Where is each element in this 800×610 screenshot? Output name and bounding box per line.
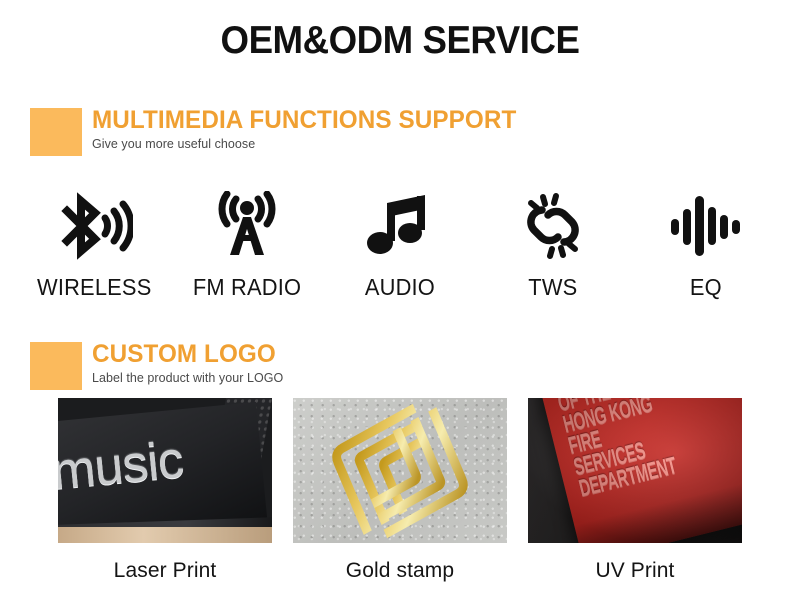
section-accent-swatch xyxy=(30,342,82,390)
broken-chain-link-icon xyxy=(518,190,588,262)
laser-print-photo: music xyxy=(58,398,272,543)
logo-sample-card: music Laser Print xyxy=(58,398,272,583)
feature-label-fm-radio: FM RADIO xyxy=(193,274,301,301)
logo-sample-card: Gold stamp xyxy=(293,398,507,583)
page-title: OEM&ODM SERVICE xyxy=(24,20,776,63)
section-header-text-group: MULTIMEDIA FUNCTIONS SUPPORT Give you mo… xyxy=(92,106,732,151)
section-title-custom-logo: CUSTOM LOGO xyxy=(92,340,713,368)
laser-printed-text: music xyxy=(58,430,185,502)
logo-sample-row: music Laser Print xyxy=(58,398,742,583)
section-title-multimedia: MULTIMEDIA FUNCTIONS SUPPORT xyxy=(92,106,713,134)
logo-sample-caption-laser-print: Laser Print xyxy=(58,559,272,583)
feature-item-fm-radio: FM RADIO xyxy=(171,190,323,301)
logo-sample-caption-gold-stamp: Gold stamp xyxy=(293,559,507,583)
feature-item-wireless: WIRELESS xyxy=(18,190,170,301)
feature-label-tws: TWS xyxy=(528,274,577,301)
logo-sample-caption-uv-print: UV Print xyxy=(528,559,742,583)
gold-foil-logo xyxy=(319,398,482,543)
feature-label-eq: EQ xyxy=(690,274,722,301)
logo-sample-card: THE HIS OF THE HONG KONG FIRE SERVICES D… xyxy=(528,398,742,583)
table-surface xyxy=(58,527,272,543)
section-subtitle-custom-logo: Label the product with your LOGO xyxy=(92,371,732,385)
radio-tower-icon xyxy=(208,190,286,262)
uv-printed-text: THE HIS OF THE HONG KONG FIRE SERVICES D… xyxy=(550,398,719,501)
feature-item-tws: TWS xyxy=(477,190,629,301)
music-note-icon xyxy=(363,190,437,262)
feature-icon-row: WIRELESS FM RADIO xyxy=(18,190,782,301)
equalizer-bars-icon xyxy=(669,190,743,262)
section-subtitle-multimedia: Give you more useful choose xyxy=(92,137,732,151)
feature-label-wireless: WIRELESS xyxy=(37,274,151,301)
bluetooth-icon xyxy=(55,190,133,262)
section-accent-swatch xyxy=(30,108,82,156)
feature-item-eq: EQ xyxy=(630,190,782,301)
section-header-text-group: CUSTOM LOGO Label the product with your … xyxy=(92,340,732,385)
uv-print-photo: THE HIS OF THE HONG KONG FIRE SERVICES D… xyxy=(528,398,742,543)
feature-item-audio: AUDIO xyxy=(324,190,476,301)
gold-stamp-photo xyxy=(293,398,507,543)
feature-label-audio: AUDIO xyxy=(365,274,435,301)
